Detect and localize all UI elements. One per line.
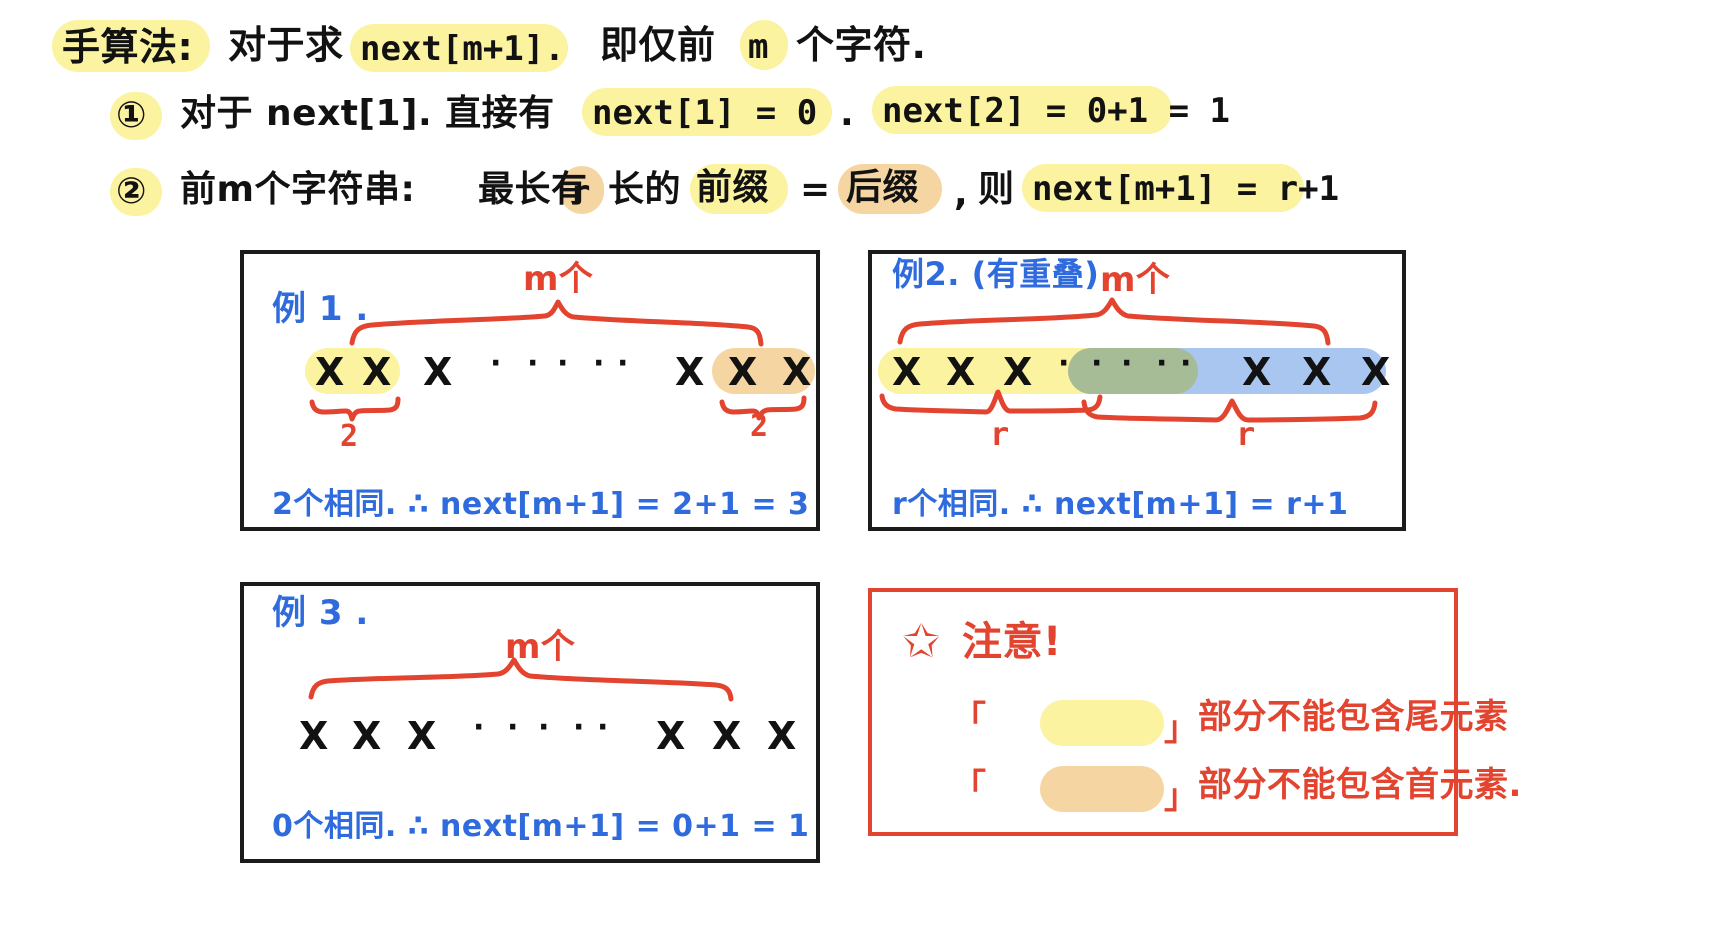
char-cell: X (362, 350, 391, 394)
note-row2-orange-swatch (1040, 766, 1164, 812)
example1-right-count: 2 (750, 412, 768, 442)
char-cell: X (1361, 350, 1390, 394)
note-row2-close-bracket: 」 (1164, 780, 1199, 814)
header-line1-part3: 个字符. (796, 26, 926, 64)
example3-title: 例 3 . (272, 596, 369, 630)
step1-next2-label: next[2] = 0+1 = 1 (882, 94, 1230, 128)
note-row1-yellow-swatch (1040, 700, 1164, 746)
note-row1-text: 部分不能包含尾元素 (1198, 700, 1509, 734)
char-cell: X (892, 350, 921, 394)
example3-brace-label: m个 (505, 630, 575, 664)
char-cell: X (712, 714, 741, 758)
char-cell: X (1242, 350, 1271, 394)
char-cell: X (1003, 350, 1032, 394)
char-cell: X (675, 350, 704, 394)
example2-char-row: X X X · · · · · X X X (878, 348, 1386, 394)
char-cell: X (946, 350, 975, 394)
char-cell: · (1156, 346, 1167, 381)
char-cell: X (407, 714, 436, 758)
example2-title: 例2. (有重叠) (892, 258, 1099, 290)
example1-title: 例 1 . (272, 292, 369, 326)
char-cell: · (573, 710, 584, 745)
header-next-label: next[m+1]. (360, 32, 565, 66)
header-line1-part1: 对于求 (228, 26, 344, 64)
step2-comma: , (954, 176, 968, 212)
example3-char-row: X X X · · · · · X X X (295, 712, 795, 758)
note-row1-close-bracket: 」 (1164, 712, 1199, 746)
step1-text-a: 对于 next[1]. 直接有 (180, 96, 555, 132)
example3-caption: 0个相同. ∴ next[m+1] = 0+1 = 1 (272, 812, 809, 842)
char-cell: · (597, 710, 608, 745)
char-cell: · (1091, 346, 1102, 381)
note-title: 注意! (962, 622, 1062, 662)
char-cell: X (423, 350, 452, 394)
note-star-icon: ✩ (902, 618, 941, 664)
char-cell: · (538, 710, 549, 745)
char-cell: X (1302, 350, 1331, 394)
char-cell: X (352, 714, 381, 758)
char-cell: X (315, 350, 344, 394)
char-cell: · (617, 346, 628, 381)
example1-brace-label: m个 (523, 262, 593, 296)
note-row2-text: 部分不能包含首元素. (1198, 768, 1522, 802)
char-cell: X (656, 714, 685, 758)
example2-right-brace-label: r (1236, 418, 1255, 450)
step2-text-c: 长的 (608, 172, 681, 208)
step2-next-label: next[m+1] = r+1 (1032, 172, 1339, 206)
header-line1-part2: 即仅前 (600, 26, 716, 64)
char-cell: · (557, 346, 568, 381)
char-cell: · (527, 346, 538, 381)
char-cell: X (299, 714, 328, 758)
example1-left-count: 2 (340, 422, 358, 452)
char-cell: · (1058, 346, 1069, 381)
step1-next1-label: next[1] = 0 (592, 96, 817, 130)
note-row1-open-bracket: 「 (952, 702, 987, 736)
step2-marker: ② (116, 174, 147, 210)
char-cell: · (490, 346, 501, 381)
step2-text-d: 则 (978, 172, 1015, 208)
char-cell: · (473, 710, 484, 745)
char-cell: X (728, 350, 757, 394)
step2-prefix-label: 前缀 (696, 170, 769, 206)
example1-char-row: X X X · · · · · X X X (305, 348, 815, 394)
char-cell: X (767, 714, 796, 758)
header-m-label: m (748, 30, 768, 64)
step2-equals: = (800, 172, 831, 208)
char-cell: · (507, 710, 518, 745)
notes-canvas: 手算法: 对于求 next[m+1]. 即仅前 m 个字符. ① 对于 next… (0, 0, 1714, 946)
char-cell: X (782, 350, 811, 394)
step2-r-label: r (570, 176, 590, 210)
step2-text-a: 前m个字符串: (180, 172, 415, 208)
example2-left-brace-label: r (990, 418, 1009, 450)
example1-caption: 2个相同. ∴ next[m+1] = 2+1 = 3 (272, 490, 809, 520)
step2-suffix-label: 后缀 (846, 170, 919, 206)
example2-brace-label: m个 (1100, 263, 1170, 297)
step1-marker: ① (116, 98, 147, 134)
note-row2-open-bracket: 「 (952, 770, 987, 804)
char-cell: · (593, 346, 604, 381)
char-cell: · (1121, 346, 1132, 381)
example2-caption: r个相同. ∴ next[m+1] = r+1 (892, 490, 1348, 520)
header-label: 手算法: (62, 28, 193, 66)
char-cell: · (1180, 346, 1191, 381)
step1-dot: . (840, 96, 854, 132)
